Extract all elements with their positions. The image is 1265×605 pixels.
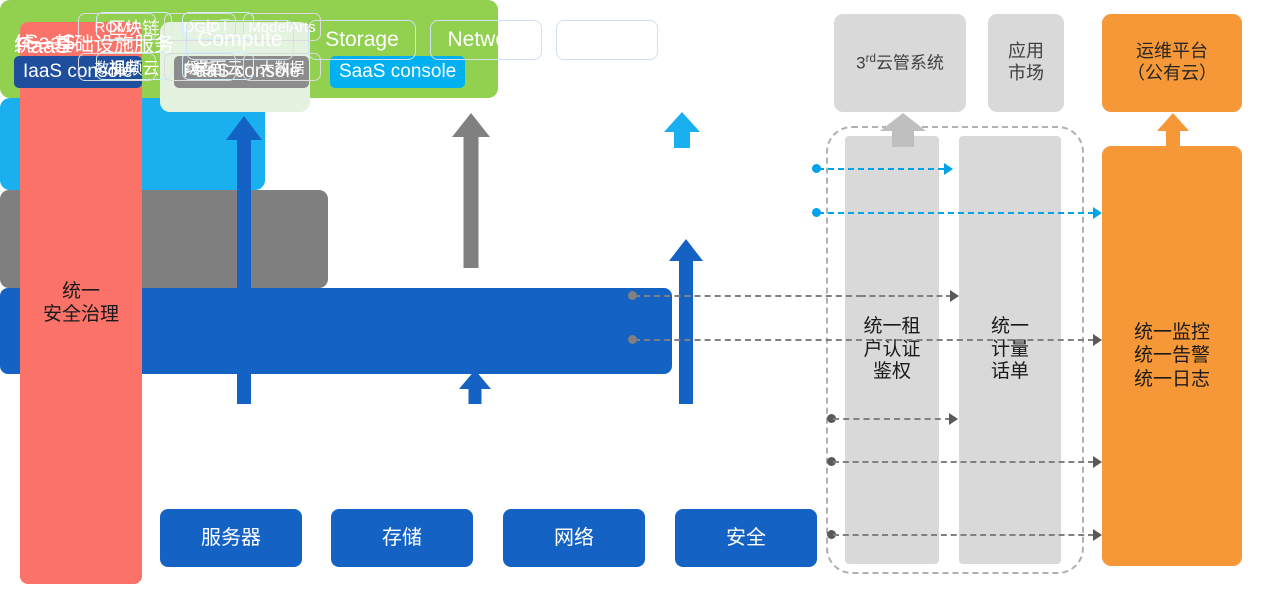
connector-auth-to-metering bbox=[860, 295, 952, 297]
paas-chip-database[interactable]: 数据库 bbox=[78, 53, 156, 81]
unified-tenant-auth-column: 统一租 户认证 鉴权 bbox=[845, 136, 939, 564]
arrow-saas-to-saas-console bbox=[664, 112, 700, 148]
iaas-chip-network[interactable]: Network bbox=[430, 20, 542, 60]
iaas-chip-cce[interactable]: CCE bbox=[556, 20, 658, 60]
connector-arrowhead-hardware-ops bbox=[1093, 529, 1102, 541]
arrow-iaas-to-api-gateway bbox=[226, 116, 262, 404]
connector-hardware-to-ops bbox=[833, 534, 1094, 536]
security-governance-label: 统一 安全治理 bbox=[43, 280, 119, 326]
ops-platform-header-label: 运维平台 （公有云） bbox=[1127, 41, 1217, 85]
ops-platform-header-box: 运维平台 （公有云） bbox=[1102, 14, 1242, 112]
connector-arrowhead-iaas-ops bbox=[1093, 456, 1102, 468]
connector-iaas-to-ops bbox=[833, 461, 1094, 463]
ops-platform-body-label: 统一监控 统一告警 统一日志 bbox=[1134, 321, 1210, 391]
connector-paas-to-auth bbox=[634, 295, 862, 297]
hardware-box-security: 安全 bbox=[675, 509, 817, 567]
security-governance-pillar: 统一 安全治理 bbox=[20, 22, 142, 584]
connector-arrowhead-saas-auth bbox=[944, 163, 953, 175]
arrow-shared-to-third-party-cloud bbox=[880, 113, 926, 147]
connector-arrowhead-paas-ops bbox=[1093, 334, 1102, 346]
connector-arrowhead-iaas-metering bbox=[949, 413, 958, 425]
arrow-iaas-to-saas bbox=[669, 239, 703, 404]
unified-metering-column: 统一 计量 话单 bbox=[959, 136, 1061, 564]
third-party-cloud-mgmt-box: 3rd云管系统 bbox=[834, 14, 966, 112]
hardware-box-server: 服务器 bbox=[160, 509, 302, 567]
unified-tenant-auth-label: 统一租 户认证 鉴权 bbox=[863, 316, 920, 384]
unified-metering-label: 统一 计量 话单 bbox=[991, 316, 1029, 384]
arrow-paas-to-paas-console bbox=[452, 113, 490, 268]
app-market-label: 应用 市场 bbox=[1008, 41, 1044, 85]
hardware-box-network: 网络 bbox=[503, 509, 645, 567]
arrow-iaas-to-paas bbox=[459, 370, 491, 404]
arrow-to-ops-platform bbox=[1157, 113, 1189, 147]
iaas-chip-storage[interactable]: Storage bbox=[308, 20, 416, 60]
saas-console-chip[interactable]: SaaS console bbox=[330, 56, 465, 88]
connector-arrowhead-auth-metering bbox=[950, 290, 959, 302]
hardware-box-storage: 存储 bbox=[331, 509, 473, 567]
connector-saas-to-ops bbox=[818, 212, 1094, 214]
iaas-chip-compute[interactable]: Compute bbox=[186, 20, 294, 60]
ops-platform-body-box: 统一监控 统一告警 统一日志 bbox=[1102, 146, 1242, 566]
unified-infrastructure-label: 统一基础设施服务 bbox=[14, 28, 174, 57]
connector-iaas-to-metering bbox=[833, 418, 951, 420]
connector-paas-to-ops bbox=[634, 339, 1094, 341]
third-party-cloud-mgmt-label: 3rd云管系统 bbox=[856, 52, 944, 74]
app-market-box: 应用 市场 bbox=[988, 14, 1064, 112]
connector-saas-to-auth bbox=[818, 168, 944, 170]
architecture-diagram: 统一 安全治理 API网关 自助服务Console框架 IaaS console… bbox=[0, 0, 1265, 605]
connector-arrowhead-saas-ops bbox=[1093, 207, 1102, 219]
